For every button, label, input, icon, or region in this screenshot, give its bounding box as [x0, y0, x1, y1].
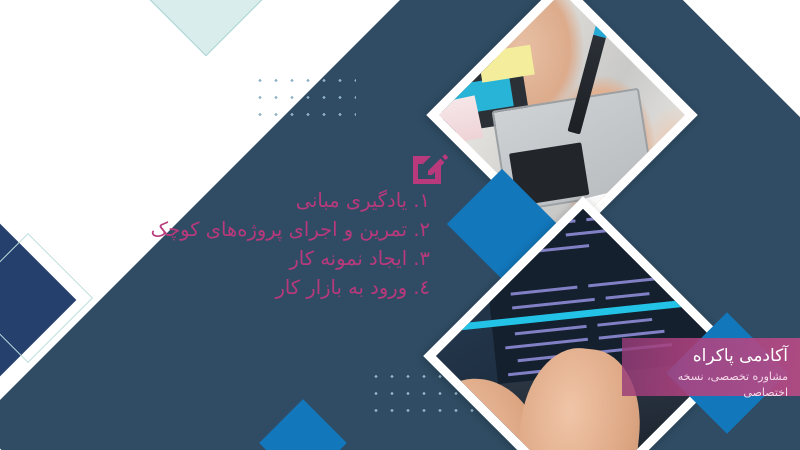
edit-compose-icon: [409, 146, 449, 186]
brand-name: آکادمی پاکراه: [634, 345, 788, 367]
dotgrid-top: [252, 72, 356, 124]
list-item: ١. یادگیری مبانی: [40, 186, 430, 215]
brand-badge: آکادمی پاکراه مشاوره تخصصی، نسخه اختصاصی: [622, 338, 800, 396]
list-item: ٢. تمرین و اجرای پروژه‌های کوچک: [40, 215, 430, 244]
brand-tagline: مشاوره تخصصی، نسخه اختصاصی: [634, 369, 788, 401]
learning-steps-list: ١. یادگیری مبانی ٢. تمرین و اجرای پروژه‌…: [40, 186, 430, 302]
diamond-teal-top: [130, 0, 283, 56]
list-item: ٤. ورود به بازار کار: [40, 273, 430, 302]
slide-canvas: ١. یادگیری مبانی ٢. تمرین و اجرای پروژه‌…: [0, 0, 800, 450]
list-item: ٣. ایجاد نمونه کار: [40, 244, 430, 273]
